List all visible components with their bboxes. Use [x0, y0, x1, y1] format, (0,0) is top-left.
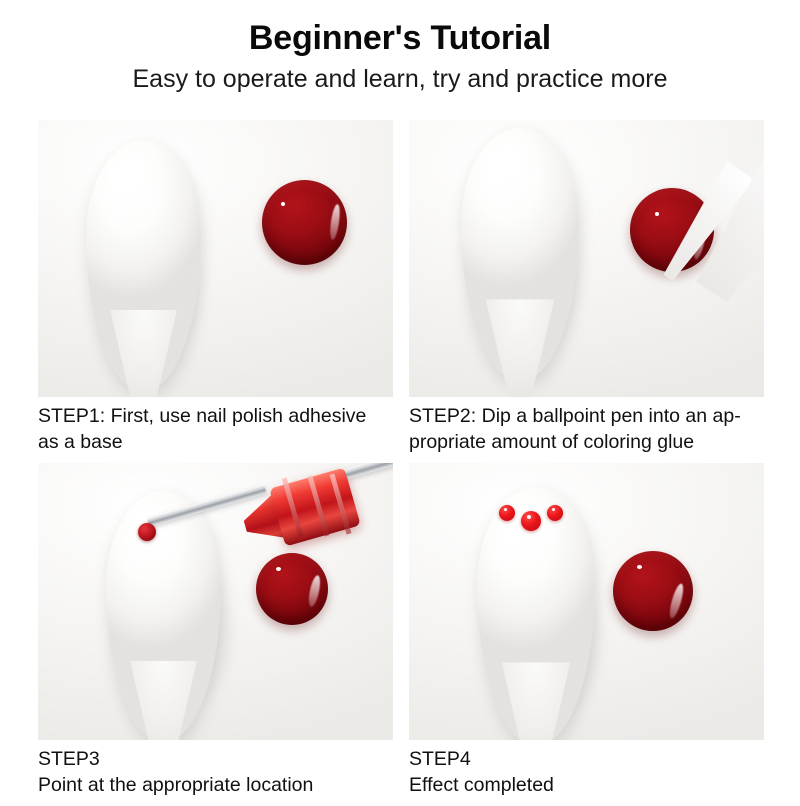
step2-caption: STEP2: Dip a ballpoint pen into an ap- p… — [409, 397, 769, 463]
tutorial-header: Beginner's Tutorial Easy to operate and … — [0, 0, 800, 96]
droplet-highlight-dot — [637, 565, 642, 569]
nail-gloss-highlight — [480, 143, 534, 219]
droplet-highlight-streak — [307, 574, 322, 607]
dot-highlight — [552, 508, 555, 511]
step1-photo — [38, 120, 393, 397]
gel-droplet — [613, 551, 693, 631]
step3-caption: STEP3 Point at the appropriate location — [38, 740, 398, 806]
step-card-step2: STEP2: Dip a ballpoint pen into an ap- p… — [409, 120, 764, 463]
droplet-highlight-dot — [281, 202, 285, 206]
page-title: Beginner's Tutorial — [0, 18, 800, 58]
painted-dot-left — [499, 505, 515, 521]
step3-photo — [38, 463, 393, 740]
droplet-highlight-streak — [667, 582, 686, 619]
tool-gel-bead — [138, 523, 156, 541]
droplet-highlight-streak — [329, 204, 342, 241]
gel-droplet — [262, 180, 347, 265]
step-card-step1: STEP1: First, use nail polish adhesive a… — [38, 120, 393, 463]
step1-caption: STEP1: First, use nail polish adhesive a… — [38, 397, 398, 463]
dot-highlight — [504, 508, 507, 511]
step4-photo — [409, 463, 764, 740]
step2-photo — [409, 120, 764, 397]
gel-droplet — [256, 553, 328, 625]
step4-caption: STEP4 Effect completed — [409, 740, 769, 806]
page-subtitle: Easy to operate and learn, try and pract… — [0, 62, 800, 96]
painted-dot-center — [521, 511, 541, 531]
step-card-step4: STEP4 Effect completed — [409, 463, 764, 806]
painted-dot-right — [547, 505, 563, 521]
droplet-highlight-dot — [655, 212, 659, 216]
droplet-highlight-dot — [276, 567, 281, 571]
step-grid: STEP1: First, use nail polish adhesive a… — [38, 120, 764, 806]
nail-gloss-highlight — [104, 155, 157, 230]
dot-highlight — [527, 515, 531, 519]
step-card-step3: STEP3 Point at the appropriate location — [38, 463, 393, 806]
